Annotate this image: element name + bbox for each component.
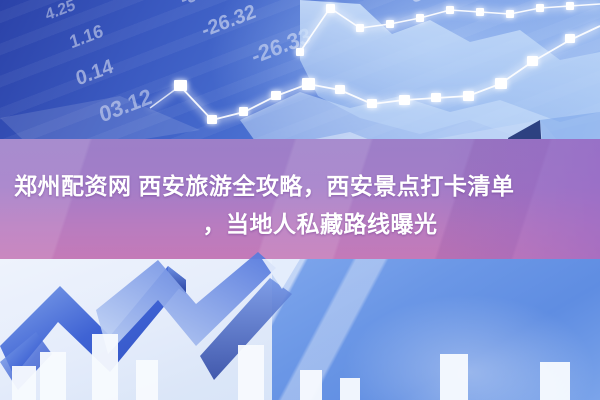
bar-column — [300, 370, 322, 400]
bar-column — [136, 360, 158, 400]
bar-column — [12, 366, 36, 400]
bar-column — [92, 334, 118, 400]
bar-column — [40, 352, 66, 400]
bar-chart-columns — [0, 259, 600, 400]
headline-line-2: ，当地人私藏路线曝光 — [203, 205, 438, 243]
banner-graphic: -09.39-08.3521.3645.0232.382.36-11.26-11… — [0, 0, 600, 400]
headline-line-1: 郑州配资网 西安旅游全攻略，西安景点打卡清单 — [14, 167, 514, 205]
headline-block: 郑州配资网 西安旅游全攻略，西安景点打卡清单 ，当地人私藏路线曝光 — [0, 160, 600, 250]
bar-column — [238, 345, 264, 400]
pointer-wedge — [262, 259, 300, 289]
bar-column — [540, 362, 570, 400]
bar-column — [340, 378, 360, 400]
bar-column — [440, 354, 468, 400]
